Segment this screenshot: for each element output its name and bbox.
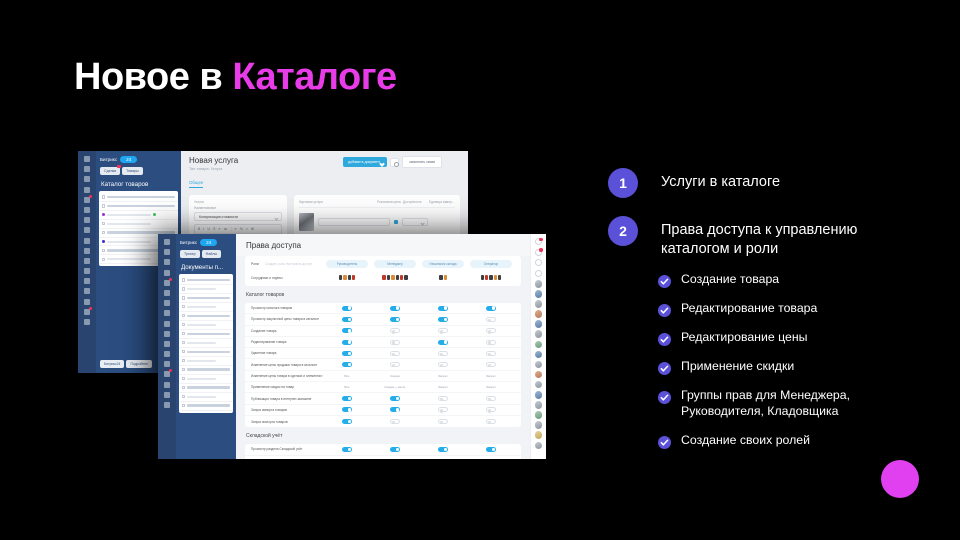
toggle-on[interactable]: [390, 407, 400, 412]
row-checkbox[interactable]: [182, 314, 185, 317]
section-heading-catalog: Каталог товаров: [236, 286, 530, 303]
toggle-on[interactable]: [342, 340, 352, 345]
list-item[interactable]: [179, 294, 233, 303]
nav-icon-15[interactable]: [164, 382, 170, 388]
permission-cell[interactable]: [419, 351, 467, 356]
page-title-plain: Новое в: [74, 56, 232, 98]
editor-toolbar[interactable]: B I U S ≡ ≔ ⋮≡ % ⌗ ⊞: [195, 225, 281, 234]
permission-cell[interactable]: [419, 306, 467, 311]
toggle-on[interactable]: [342, 351, 352, 356]
permission-cell[interactable]: [419, 447, 467, 452]
permission-cell[interactable]: [467, 362, 515, 367]
nav-icon-14[interactable]: [164, 371, 170, 377]
nav-icon-3[interactable]: [164, 259, 170, 265]
nav-icon-12[interactable]: [84, 268, 90, 274]
permission-cell[interactable]: [419, 328, 467, 333]
nav-icon-7[interactable]: [84, 217, 90, 223]
row-checkbox[interactable]: [182, 305, 185, 308]
permission-cell[interactable]: [323, 306, 371, 311]
check-circle-icon: [658, 275, 671, 288]
nav-icon-4[interactable]: [164, 270, 170, 276]
toggle-off[interactable]: [486, 362, 496, 367]
nav-icon-5[interactable]: [84, 197, 90, 203]
permission-cell[interactable]: [467, 351, 515, 356]
row-text: [187, 396, 216, 398]
col-image: Картинка услуги: [299, 200, 377, 204]
table-row[interactable]: [99, 220, 178, 229]
permission-cell[interactable]: Все: [323, 374, 371, 378]
price-input[interactable]: [318, 218, 390, 226]
footer-chip-more[interactable]: Подробнее: [126, 360, 152, 368]
row-text: [107, 241, 151, 243]
documents-list: [179, 274, 233, 413]
gear-icon[interactable]: [390, 158, 399, 167]
role-column-head[interactable]: Оператор: [470, 260, 512, 268]
nav-icon-15[interactable]: [84, 299, 90, 305]
check-list: Создание товара Редактирование товара Ре…: [658, 272, 918, 449]
permission-cell[interactable]: [371, 306, 419, 311]
permission-cell[interactable]: [371, 396, 419, 401]
toggle-off[interactable]: [486, 340, 496, 345]
toggle-off[interactable]: [486, 419, 496, 424]
app-logo-badge: 24: [200, 239, 217, 246]
app-nav-rail[interactable]: [78, 151, 96, 373]
avatar[interactable]: [535, 381, 543, 389]
permission-cell[interactable]: [467, 306, 515, 311]
table-row: Удаление товара: [245, 348, 521, 359]
row-checkbox[interactable]: [182, 332, 185, 335]
list-item[interactable]: [179, 276, 233, 285]
row-checkbox[interactable]: [102, 258, 105, 261]
permission-cell[interactable]: [371, 407, 419, 412]
permission-value[interactable]: Все: [344, 374, 349, 378]
list-item-label: Создание товара: [681, 272, 779, 288]
permission-cell[interactable]: [323, 407, 371, 412]
row-checkbox[interactable]: [102, 231, 105, 234]
toggle-on[interactable]: [342, 407, 352, 412]
row-checkbox[interactable]: [182, 350, 185, 353]
nav-icon-1[interactable]: [84, 156, 90, 162]
documents-list-panel: Битрикс24 Трекер Файлы Документы п...: [176, 234, 236, 459]
tab-products[interactable]: Товары: [122, 167, 142, 175]
table-row: Редактирование товара: [245, 337, 521, 348]
list-item-label: Редактирование цены: [681, 330, 807, 346]
avatar[interactable]: [535, 431, 543, 439]
list-item: Создание товара: [658, 272, 918, 288]
footer-chip-bitrix[interactable]: Битрикс24: [100, 360, 124, 368]
access-rights-panel: Права доступа Роли Создать роль Настроит…: [236, 234, 530, 459]
row-checkbox[interactable]: [182, 395, 185, 398]
permission-value[interactable]: Запрет: [438, 385, 448, 389]
table-row[interactable]: [99, 202, 178, 211]
table-row: Просмотр каталога товаров: [245, 303, 521, 314]
toggle-off[interactable]: [438, 419, 448, 424]
toggle-on[interactable]: [438, 447, 448, 452]
permission-value[interactable]: Скидки: [390, 374, 400, 378]
list-item[interactable]: [179, 321, 233, 330]
toggle-off[interactable]: [486, 407, 496, 412]
toggle-off[interactable]: [486, 351, 496, 356]
nav-icon-9[interactable]: [164, 321, 170, 327]
permission-label: Просмотр раздела Складской учёт: [251, 447, 323, 451]
toggle-on[interactable]: [342, 396, 352, 401]
permission-label: Создание товара: [251, 329, 323, 333]
list-tabs[interactable]: Сделки Товары: [96, 163, 181, 175]
roles-header-box: Роли Создать роль Настроить доступ Руков…: [245, 256, 521, 286]
row-text: [187, 288, 216, 290]
numbered-item-1: 1 Услуги в каталоге: [608, 168, 918, 198]
check-circle-icon: [658, 436, 671, 449]
avatar[interactable]: [535, 330, 543, 338]
list-item[interactable]: [179, 285, 233, 294]
permission-cell[interactable]: [371, 362, 419, 367]
users-group-icon[interactable]: [323, 275, 371, 280]
row-checkbox[interactable]: [102, 204, 105, 207]
nav-icon-8[interactable]: [164, 310, 170, 316]
avatar[interactable]: [535, 401, 543, 409]
row-swatch: [102, 213, 105, 216]
permission-value[interactable]: Все: [344, 385, 349, 389]
fill-relations-button[interactable]: заполнить связи: [402, 156, 442, 168]
permission-cell[interactable]: [467, 340, 515, 345]
add-document-button[interactable]: добавить документ: [343, 157, 387, 167]
clock-icon[interactable]: [535, 259, 542, 266]
users-group-icon[interactable]: [419, 275, 467, 280]
row-checkbox[interactable]: [182, 404, 185, 407]
permission-cell[interactable]: [467, 447, 515, 452]
role-column-head[interactable]: Менеджер: [374, 260, 416, 268]
nav-icon-5[interactable]: [164, 280, 170, 286]
permission-cell[interactable]: [419, 396, 467, 401]
permission-cell[interactable]: [371, 351, 419, 356]
bell-icon[interactable]: [535, 238, 542, 245]
row-text: [107, 223, 151, 225]
table-row: Изменение цены продажи товара в каталоге: [245, 359, 521, 370]
toggle-on[interactable]: [390, 317, 400, 322]
avatar[interactable]: [535, 351, 543, 359]
avatar[interactable]: [535, 280, 543, 288]
page-title-accent: Каталоге: [232, 56, 396, 98]
right-rail: [530, 234, 546, 459]
toggle-on[interactable]: [438, 317, 448, 322]
form-actions: добавить документ заполнить связи: [343, 156, 442, 168]
permission-cell[interactable]: Запрет: [419, 385, 467, 389]
permission-label: Просмотр каталога товаров: [251, 306, 323, 310]
permission-cell[interactable]: [371, 340, 419, 345]
row-text: [187, 297, 230, 299]
row-checkbox[interactable]: [182, 323, 185, 326]
toggle-off[interactable]: [438, 407, 448, 412]
toggle-on[interactable]: [342, 328, 352, 333]
col-availability: Доступность: [403, 200, 429, 204]
permission-cell[interactable]: Скидки: [371, 374, 419, 378]
row-text: [187, 324, 216, 326]
assignees-row: Сотрудники и отделы: [245, 272, 521, 286]
list-item-label: Создание своих ролей: [681, 433, 810, 449]
nav-icon-9[interactable]: [84, 238, 90, 244]
toggle-on[interactable]: [342, 447, 352, 452]
row-text: [107, 214, 151, 216]
table-row: Публикация товара в интернет-магазине: [245, 393, 521, 404]
permission-value[interactable]: Запрет: [486, 374, 496, 378]
permissions-table-warehouse: Просмотр раздела Складской учёт Добавлен…: [245, 444, 521, 459]
row-text: [187, 368, 230, 370]
row-checkbox[interactable]: [182, 386, 185, 389]
row-text: [187, 306, 216, 308]
list-item[interactable]: [179, 312, 233, 321]
toggle-off[interactable]: [390, 419, 400, 424]
avatar[interactable]: [535, 411, 543, 419]
toggle-off[interactable]: [438, 351, 448, 356]
list-item: Редактирование товара: [658, 301, 918, 317]
users-group-icon[interactable]: [371, 275, 419, 280]
list-item[interactable]: [179, 402, 233, 411]
assignees-label: Сотрудники и отделы: [251, 276, 323, 280]
app-logo: Битрикс24: [96, 151, 181, 163]
toggle-off[interactable]: [486, 396, 496, 401]
toggle-on[interactable]: [342, 306, 352, 311]
check-circle-icon: [658, 391, 671, 404]
permission-cell[interactable]: [371, 447, 419, 452]
numbered-item-label: Услуги в каталоге: [661, 168, 780, 192]
permission-cell[interactable]: Запрет: [467, 374, 515, 378]
tab-tracker[interactable]: Трекер: [180, 250, 200, 258]
list-item[interactable]: [179, 366, 233, 375]
section-label: Услуги: [194, 200, 282, 204]
role-column-head[interactable]: Начальник склада: [422, 260, 464, 268]
row-text: [187, 315, 230, 317]
toggle-off[interactable]: [438, 328, 448, 333]
list-item[interactable]: [179, 330, 233, 339]
permission-cell[interactable]: Скидки + налог: [371, 385, 419, 389]
permission-cell[interactable]: [323, 351, 371, 356]
list-item[interactable]: [179, 375, 233, 384]
permission-cell[interactable]: [323, 396, 371, 401]
availability-checkbox[interactable]: [394, 220, 398, 224]
toggle-off[interactable]: [390, 362, 400, 367]
row-swatch: [102, 240, 105, 243]
roles-row: Роли Создать роль Настроить доступ Руков…: [245, 256, 521, 272]
toggle-on[interactable]: [342, 362, 352, 367]
nav-icon-14[interactable]: [84, 288, 90, 294]
name-input[interactable]: Консультация стоимости: [194, 212, 282, 221]
role-column-head[interactable]: Руководитель: [326, 260, 368, 268]
slide: Новое в Каталоге Битрикс24: [0, 0, 960, 540]
row-checkbox[interactable]: [182, 377, 185, 380]
toggle-on[interactable]: [438, 340, 448, 345]
toggle-off[interactable]: [438, 362, 448, 367]
roles-links[interactable]: Создать роль Настроить доступ: [265, 262, 323, 266]
permission-value[interactable]: Запрет: [438, 374, 448, 378]
toggle-on[interactable]: [486, 447, 496, 452]
permission-cell[interactable]: [323, 419, 371, 424]
chat-icon[interactable]: [535, 249, 542, 256]
permission-cell[interactable]: [419, 317, 467, 322]
nav-icon-13[interactable]: [164, 361, 170, 367]
permission-label: Запуск импорта товаров: [251, 408, 323, 412]
permission-cell[interactable]: [419, 362, 467, 367]
toggle-off[interactable]: [486, 317, 496, 322]
page-title: Новое в Каталоге: [74, 56, 397, 99]
feature-list-panel: 1 Услуги в каталоге 2 Права доступа к уп…: [608, 168, 918, 462]
nav-icon-1[interactable]: [164, 239, 170, 245]
permissions-table-catalog: Просмотр каталога товаров Просмотр закуп…: [245, 303, 521, 427]
avatar[interactable]: [535, 391, 543, 399]
row-checkbox[interactable]: [182, 368, 185, 371]
permission-cell[interactable]: [419, 419, 467, 424]
permission-value[interactable]: Скидки + налог: [384, 385, 405, 389]
list-item[interactable]: [179, 339, 233, 348]
avatar[interactable]: [535, 320, 543, 328]
row-checkbox[interactable]: [102, 195, 105, 198]
row-checkbox[interactable]: [102, 249, 105, 252]
row-checkbox[interactable]: [182, 341, 185, 344]
check-circle-icon: [658, 362, 671, 375]
toggle-on[interactable]: [438, 306, 448, 311]
row-text: [187, 360, 216, 362]
nav-icon-6[interactable]: [84, 207, 90, 213]
nav-icon-11[interactable]: [164, 341, 170, 347]
toggle-on[interactable]: [486, 306, 496, 311]
name-field-label: Наименование: [194, 206, 282, 210]
list-item: Редактирование цены: [658, 330, 918, 346]
permission-cell[interactable]: Все: [323, 385, 371, 389]
toggle-off[interactable]: [390, 328, 400, 333]
nav-icon-6[interactable]: [164, 290, 170, 296]
permission-cell[interactable]: [323, 317, 371, 322]
permission-cell[interactable]: [323, 340, 371, 345]
toggle-off[interactable]: [438, 396, 448, 401]
nav-icon-13[interactable]: [84, 278, 90, 284]
panel-title: Права доступа: [236, 234, 530, 256]
list-item[interactable]: [179, 357, 233, 366]
nav-icon-10[interactable]: [84, 248, 90, 254]
unit-select[interactable]: [402, 218, 428, 226]
permission-cell[interactable]: [419, 340, 467, 345]
avatar[interactable]: [535, 300, 543, 308]
product-image: [299, 213, 314, 231]
avatar[interactable]: [535, 310, 543, 318]
nav-icon-8[interactable]: [84, 227, 90, 233]
nav-icon-3[interactable]: [84, 176, 90, 182]
permission-cell[interactable]: [419, 407, 467, 412]
permission-cell[interactable]: [323, 328, 371, 333]
nav-icon-2[interactable]: [164, 249, 170, 255]
list-item[interactable]: [179, 393, 233, 402]
table-row: Запуск импорта товаров: [245, 405, 521, 416]
row-checkbox[interactable]: [182, 359, 185, 362]
permission-cell[interactable]: [323, 362, 371, 367]
table-row: Добавление/изменение/удаление складов: [245, 456, 521, 459]
users-group-icon[interactable]: [467, 275, 515, 280]
decorative-dot: [881, 460, 919, 498]
nav-icon-7[interactable]: [164, 300, 170, 306]
list-tabs[interactable]: Трекер Файлы: [176, 246, 236, 258]
nav-icon-12[interactable]: [164, 351, 170, 357]
permission-cell[interactable]: Запрет: [419, 374, 467, 378]
table-row: Создание товара: [245, 326, 521, 337]
permission-label: Удаление товара: [251, 351, 323, 355]
permission-label: Применение скидки на товар: [251, 385, 323, 389]
nav-icon-16[interactable]: [84, 309, 90, 315]
number-badge: 2: [608, 216, 638, 246]
table-row: Запуск экспорта товаров: [245, 416, 521, 427]
row-checkbox[interactable]: [182, 296, 185, 299]
search-icon[interactable]: [535, 270, 542, 277]
table-row: Применение скидки на товарВсеСкидки + на…: [245, 382, 521, 393]
permission-cell[interactable]: [467, 407, 515, 412]
tab-general[interactable]: Общее: [189, 180, 203, 188]
tab-deals[interactable]: Сделки: [100, 167, 120, 175]
list-item[interactable]: [179, 303, 233, 312]
toggle-on[interactable]: [342, 317, 352, 322]
app-nav-rail[interactable]: [158, 234, 176, 459]
permission-cell[interactable]: [371, 328, 419, 333]
permission-cell[interactable]: [371, 419, 419, 424]
permission-value[interactable]: Запрет: [486, 385, 496, 389]
toggle-on[interactable]: [390, 306, 400, 311]
list-item[interactable]: [179, 348, 233, 357]
check-circle-icon: [658, 304, 671, 317]
avatar[interactable]: [535, 371, 543, 379]
row-checkbox[interactable]: [182, 287, 185, 290]
nav-icon-16[interactable]: [164, 392, 170, 398]
table-row[interactable]: [99, 211, 178, 220]
list-heading: Документы п...: [176, 258, 236, 274]
avatar[interactable]: [535, 290, 543, 298]
list-item: Применение скидки: [658, 359, 918, 375]
toggle-off[interactable]: [486, 328, 496, 333]
permission-label: Изменение цены товара в сделках и элемен…: [251, 374, 323, 378]
permission-cell[interactable]: [323, 447, 371, 452]
nav-icon-17[interactable]: [84, 319, 90, 325]
row-text: [107, 196, 175, 198]
variations-table-header: Картинка услуги Розничная цена Доступнос…: [299, 200, 455, 208]
toggle-off[interactable]: [390, 340, 400, 345]
toggle-on[interactable]: [390, 447, 400, 452]
list-item: Создание своих ролей: [658, 433, 918, 449]
row-checkbox[interactable]: [182, 278, 185, 281]
nav-icon-11[interactable]: [84, 258, 90, 264]
nav-icon-4[interactable]: [84, 187, 90, 193]
avatar[interactable]: [535, 442, 543, 450]
avatar[interactable]: [535, 361, 543, 369]
number-badge: 1: [608, 168, 638, 198]
row-text: [107, 258, 151, 260]
toggle-on[interactable]: [390, 396, 400, 401]
toggle-on[interactable]: [342, 419, 352, 424]
list-item: Группы прав для Менеджера, Руководителя,…: [658, 388, 918, 420]
permission-cell[interactable]: Запрет: [467, 385, 515, 389]
app-logo: Битрикс24: [176, 234, 236, 246]
nav-icon-17[interactable]: [164, 402, 170, 408]
permission-cell[interactable]: [371, 317, 419, 322]
toggle-off[interactable]: [390, 351, 400, 356]
permission-cell[interactable]: [467, 317, 515, 322]
row-text: [107, 205, 175, 207]
row-checkbox[interactable]: [102, 222, 105, 225]
permission-cell[interactable]: [467, 328, 515, 333]
list-item[interactable]: [179, 384, 233, 393]
nav-icon-10[interactable]: [164, 331, 170, 337]
table-row[interactable]: [99, 193, 178, 202]
permission-cell[interactable]: [467, 419, 515, 424]
avatar[interactable]: [535, 421, 543, 429]
avatar[interactable]: [535, 341, 543, 349]
tab-files[interactable]: Файлы: [202, 250, 221, 258]
nav-icon-2[interactable]: [84, 166, 90, 172]
permission-cell[interactable]: [467, 396, 515, 401]
